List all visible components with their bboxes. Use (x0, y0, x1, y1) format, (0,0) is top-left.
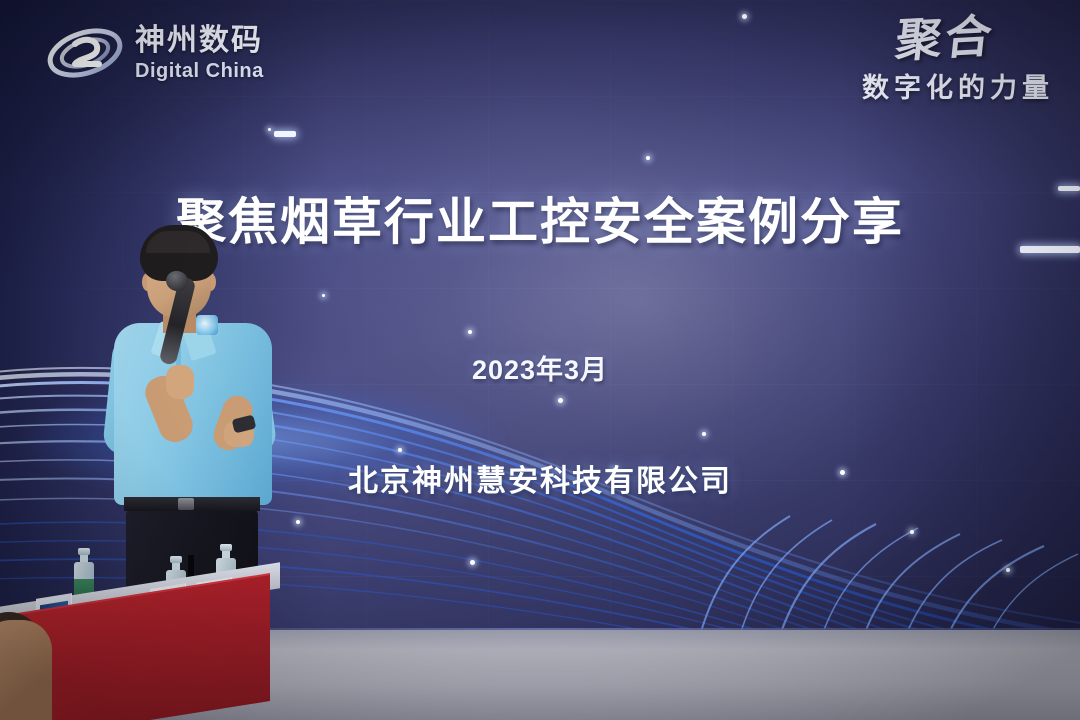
light-particle (468, 330, 472, 334)
logo-english-name: Digital China (135, 61, 264, 81)
speaker-shirt-logo-icon (196, 315, 218, 335)
slogan-tagline: 数字化的力量 (862, 66, 1054, 105)
speaker-left-hand (166, 365, 194, 399)
light-particle (558, 398, 563, 403)
slogan-brush-text: 聚合 (859, 15, 997, 66)
logo-chinese-name: 神州数码 (135, 26, 264, 56)
light-streak (274, 131, 296, 137)
foreground-person (0, 620, 52, 720)
light-particle (268, 128, 271, 131)
light-particle (322, 294, 325, 297)
light-particle (296, 520, 300, 524)
stage-photo: 神州数码 Digital China 聚合 数字化的力量 聚焦烟草行业工控安全案… (0, 0, 1080, 720)
light-particle (646, 156, 650, 160)
event-slogan-logo: 聚合 数字化的力量 (862, 18, 1054, 105)
light-particle (398, 448, 402, 452)
light-particle (1006, 568, 1010, 572)
light-particle (742, 14, 747, 19)
digital-china-swirl-icon (45, 22, 125, 84)
light-particle (702, 432, 706, 436)
digital-china-wordmark: 神州数码 Digital China (135, 26, 264, 81)
light-particle (910, 530, 914, 534)
digital-china-logo: 神州数码 Digital China (45, 22, 264, 84)
speaker-belt-buckle (178, 498, 194, 510)
light-particle (470, 560, 475, 565)
